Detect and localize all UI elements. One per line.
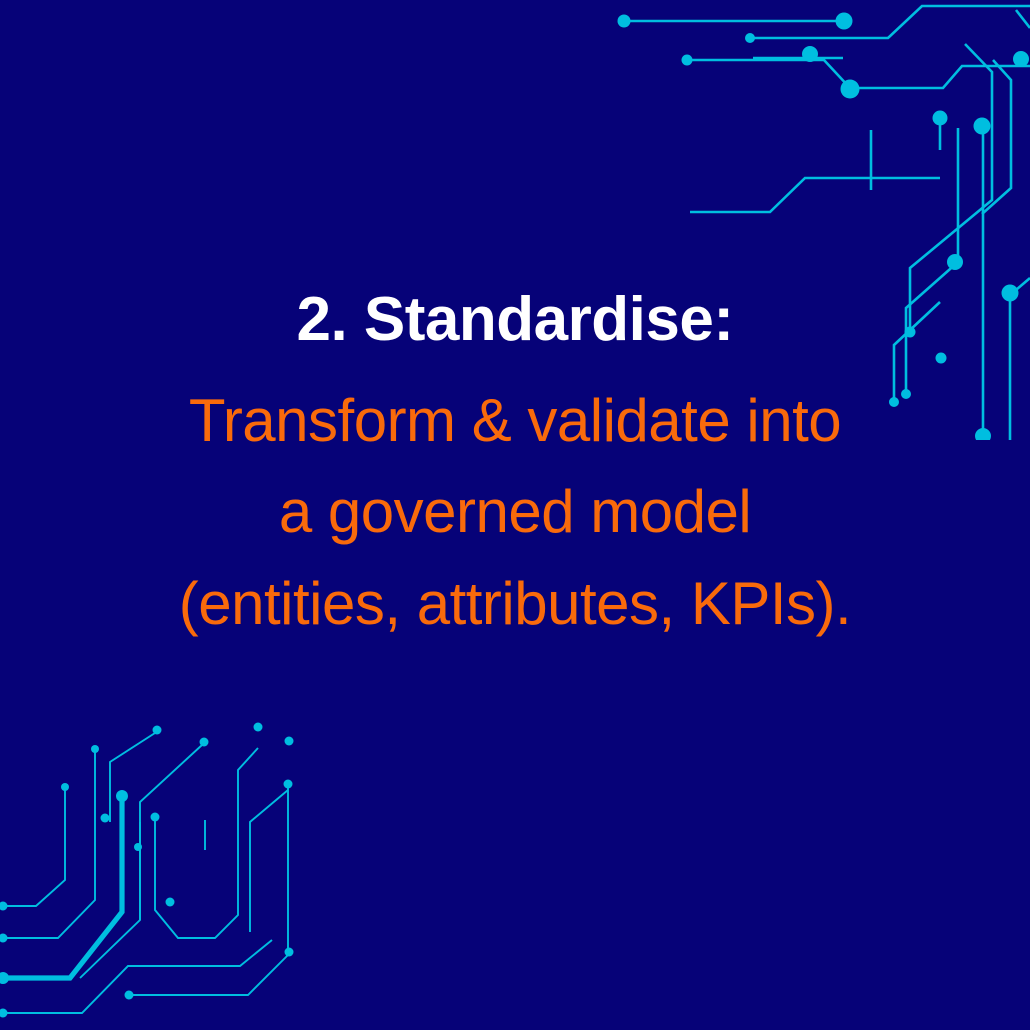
body-line: Transform & validate into xyxy=(40,375,990,466)
slide-card: 2. Standardise: Transform & validate int… xyxy=(0,0,1030,1030)
slide-text-block: 2. Standardise: Transform & validate int… xyxy=(0,288,1030,649)
circuit-decoration-bottom-left xyxy=(0,710,340,1030)
slide-body: Transform & validate into a governed mod… xyxy=(40,375,990,649)
slide-heading: 2. Standardise: xyxy=(40,288,990,351)
body-line: (entities, attributes, KPIs). xyxy=(40,558,990,649)
body-line: a governed model xyxy=(40,466,990,557)
